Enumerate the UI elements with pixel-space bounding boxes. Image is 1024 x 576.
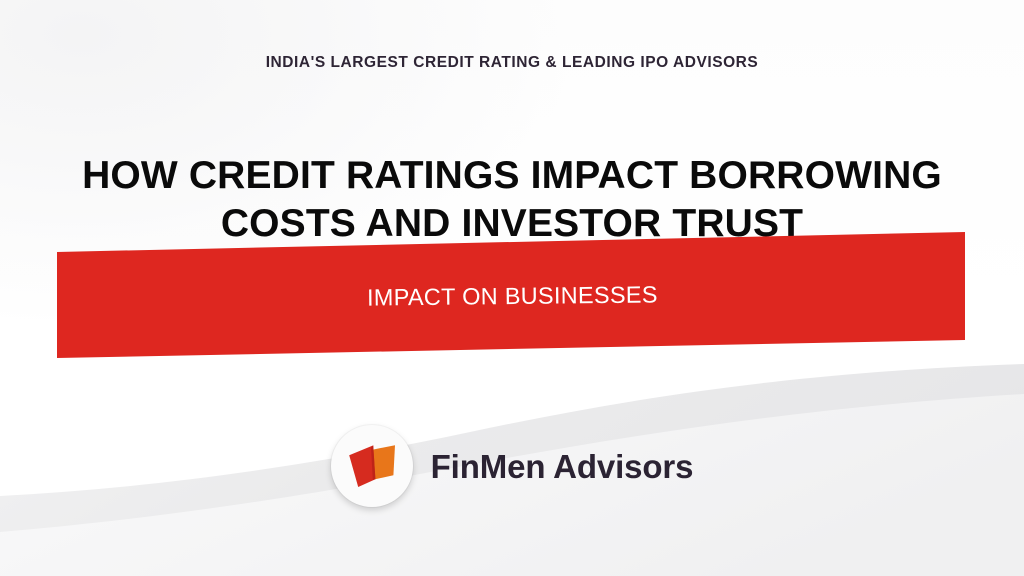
- page-title-line-1: HOW CREDIT RATINGS IMPACT BORROWING: [62, 152, 962, 200]
- subtitle-banner: IMPACT ON BUSINESSES: [0, 218, 1024, 374]
- brand-wordmark: FinMen Advisors: [431, 450, 694, 483]
- eyebrow-tagline: INDIA'S LARGEST CREDIT RATING & LEADING …: [0, 54, 1024, 72]
- banner-text-container: IMPACT ON BUSINESSES: [0, 218, 1024, 374]
- logo-orange-page: [372, 445, 394, 480]
- presentation-slide: INDIA'S LARGEST CREDIT RATING & LEADING …: [0, 0, 1024, 576]
- banner-label: IMPACT ON BUSINESSES: [366, 281, 657, 311]
- finmen-book-mark-icon: [346, 441, 398, 491]
- brand-lockup: FinMen Advisors: [0, 423, 1024, 509]
- logo-badge: [331, 425, 413, 507]
